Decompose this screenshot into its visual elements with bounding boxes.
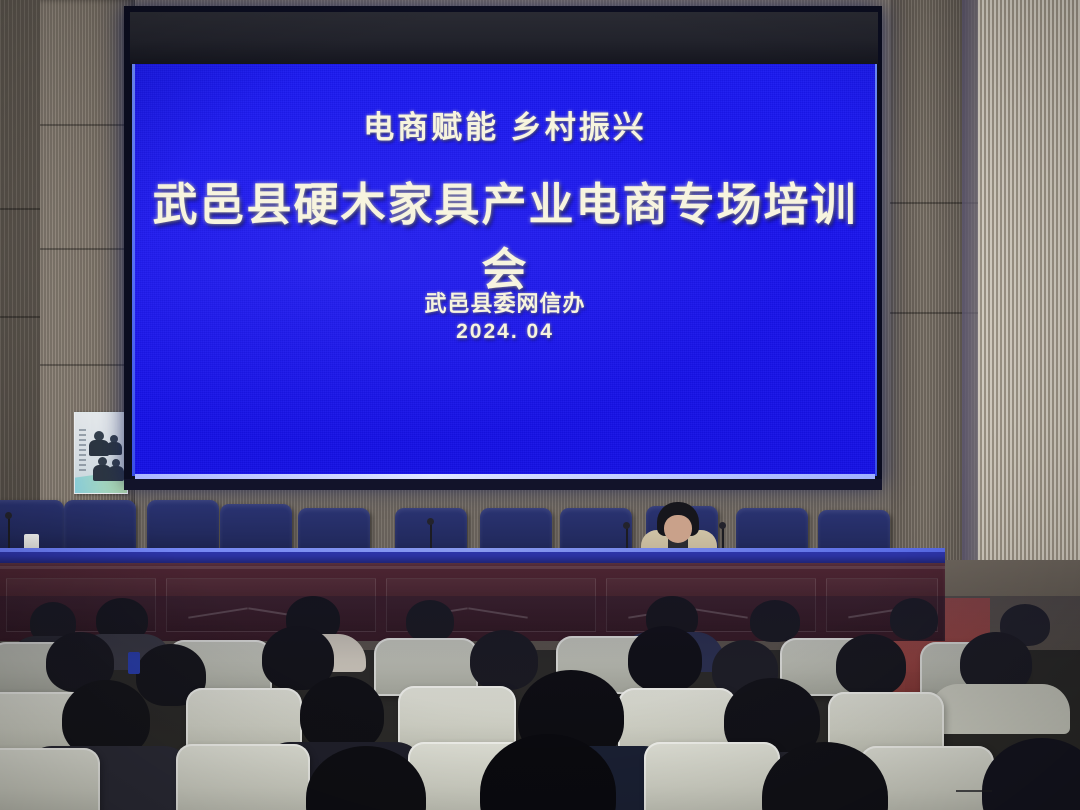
- microphone-head: [623, 522, 630, 529]
- attendee-head: [890, 598, 938, 640]
- poster-text-block: [79, 429, 86, 473]
- microphone-stem: [626, 528, 628, 550]
- attendee-head: [836, 634, 906, 696]
- attendee-head: [628, 626, 702, 692]
- wall-poster: [74, 412, 128, 494]
- wall-seam: [0, 208, 40, 210]
- slide-date: 2024. 04: [135, 320, 875, 344]
- audience-seat: [644, 742, 780, 810]
- speaker-face: [664, 515, 692, 543]
- wall-seam: [0, 316, 40, 318]
- microphone-head: [5, 512, 12, 519]
- slide-headline: 电商赋能 乡村振兴: [135, 102, 875, 147]
- attendee-head: [406, 600, 454, 642]
- microphone-head: [719, 522, 726, 529]
- attendee-head: [470, 630, 538, 690]
- led-screen-top-band: [130, 12, 878, 64]
- poster-figure-body: [106, 442, 122, 455]
- led-screen-bottom-bezel: [124, 479, 882, 490]
- microphone-stem: [430, 524, 432, 550]
- eyeglasses: [956, 790, 992, 792]
- audience-seat: [0, 748, 100, 810]
- wall-seam: [40, 364, 135, 366]
- conference-hall-photo: 电商赋能 乡村振兴 武邑县硬木家具产业电商专场培训会 武邑县委网信办 2024.…: [0, 0, 1080, 810]
- microphone-stem: [8, 518, 10, 550]
- wall-panel-right-striped: [978, 0, 1080, 620]
- slide-title: 武邑县硬木家具产业电商专场培训会: [135, 168, 875, 298]
- attendee-head: [982, 738, 1080, 810]
- slide-organization: 武邑县委网信办: [135, 286, 875, 318]
- led-screen-display: 电商赋能 乡村振兴 武邑县硬木家具产业电商专场培训会 武邑县委网信办 2024.…: [135, 64, 875, 476]
- poster-figure-body: [108, 466, 124, 481]
- microphone-stem: [722, 528, 724, 550]
- head-table-runner-highlight: [0, 548, 945, 552]
- audience-area: [0, 596, 1080, 810]
- attendee-shoulder: [930, 684, 1070, 734]
- wall-panel-far-left: [0, 0, 40, 560]
- wall-seam: [40, 248, 135, 250]
- attendee-head: [750, 600, 800, 642]
- wall-seam: [40, 124, 135, 126]
- head-table-rail: [0, 566, 945, 569]
- audience-seat: [176, 744, 310, 810]
- attendee-head: [300, 676, 384, 752]
- blue-lanyard: [128, 652, 140, 674]
- microphone-head: [427, 518, 434, 525]
